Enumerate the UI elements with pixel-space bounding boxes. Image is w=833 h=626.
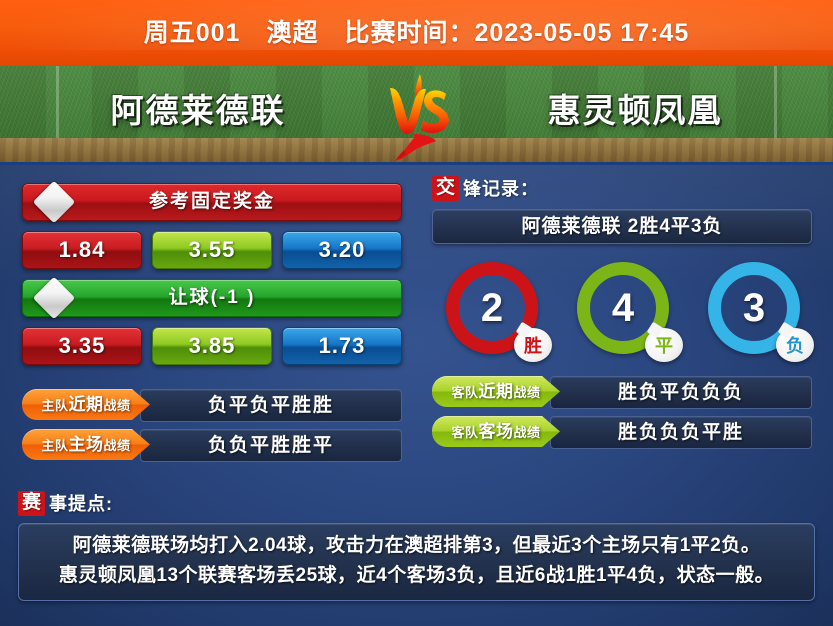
away-form-block: 客队近期战绩 胜负平负负负 客队客场战绩 胜负负负平胜: [432, 376, 812, 447]
fixed-odd-away[interactable]: 3.20: [282, 231, 402, 269]
h2h-column: 交 锋记录： 阿德莱德联 2胜4平3负 2 胜 4 平 3 负: [432, 175, 812, 456]
h2h-ring-loss: 3 负: [708, 262, 800, 354]
odds-column: 参考固定奖金 1.84 3.55 3.20 让球(-1 ) 3.35 3.85 …: [22, 183, 402, 469]
home-recent-form-value: 负平负平胜胜: [140, 389, 402, 422]
handicap-odd-draw[interactable]: 3.85: [152, 327, 272, 365]
away-team-name: 惠灵顿凤凰: [485, 84, 785, 132]
handicap-title: 让球(-1 ): [23, 280, 401, 316]
handicap-title-bar: 让球(-1 ): [22, 279, 402, 317]
handicap-odd-home[interactable]: 3.35: [22, 327, 142, 365]
match-header-text: 周五001 澳超 比赛时间：2023-05-05 17:45: [0, 0, 833, 66]
h2h-record-bar: 阿德莱德联 2胜4平3负: [432, 209, 812, 244]
fixed-odd-draw[interactable]: 3.55: [152, 231, 272, 269]
h2h-ring-win: 2 胜: [446, 262, 538, 354]
home-form-block: 主队近期战绩 负平负平胜胜 主队主场战绩 负负平胜胜平: [22, 389, 402, 460]
tips-heading: 赛 事提点:: [18, 489, 815, 517]
home-venue-form-value: 负负平胜胜平: [140, 429, 402, 462]
fixed-odds-title-bar: 参考固定奖金: [22, 183, 402, 221]
handicap-odds-row: 3.35 3.85 1.73: [22, 327, 402, 365]
handicap-odd-away[interactable]: 1.73: [282, 327, 402, 365]
fixed-odds-title: 参考固定奖金: [23, 184, 401, 220]
away-venue-form-row: 客队客场战绩 胜负负负平胜: [432, 416, 812, 447]
header-banner: 周五001 澳超 比赛时间：2023-05-05 17:45: [0, 0, 833, 66]
h2h-heading-text: 锋记录：: [463, 175, 539, 201]
h2h-rings: 2 胜 4 平 3 负: [432, 262, 812, 354]
h2h-heading: 交 锋记录：: [432, 175, 812, 201]
vs-flame-icon: [374, 68, 460, 162]
match-preview-card: 周五001 澳超 比赛时间：2023-05-05 17:45 阿德莱德联 惠: [0, 0, 833, 626]
fixed-odds-row: 1.84 3.55 3.20: [22, 231, 402, 269]
away-recent-form-value: 胜负平负负负: [550, 376, 812, 409]
main-panel: 参考固定奖金 1.84 3.55 3.20 让球(-1 ) 3.35 3.85 …: [0, 162, 833, 626]
home-team-name: 阿德莱德联: [48, 84, 348, 132]
away-venue-form-tab: 客队客场战绩: [432, 416, 560, 447]
fixed-odd-home[interactable]: 1.84: [22, 231, 142, 269]
tips-line-2: 惠灵顿凤凰13个联赛客场丢25球，近4个客场3负，且近6战1胜1平4负，状态一般…: [33, 561, 800, 591]
tips-line-1: 阿德莱德联场均打入2.04球，攻击力在澳超排第3，但最近3个主场只有1平2负。: [33, 531, 800, 561]
tips-box: 阿德莱德联场均打入2.04球，攻击力在澳超排第3，但最近3个主场只有1平2负。 …: [18, 523, 815, 601]
ring-draw-badge: 平: [645, 328, 683, 362]
ring-loss-badge: 负: [776, 328, 814, 362]
home-recent-form-row: 主队近期战绩 负平负平胜胜: [22, 389, 402, 420]
ring-win-badge: 胜: [514, 328, 552, 362]
tips-heading-text: 事提点:: [49, 490, 113, 516]
away-recent-form-row: 客队近期战绩 胜负平负负负: [432, 376, 812, 407]
h2h-ring-draw: 4 平: [577, 262, 669, 354]
tips-tag: 赛: [18, 491, 45, 516]
home-venue-form-tab: 主队主场战绩: [22, 429, 150, 460]
away-venue-form-value: 胜负负负平胜: [550, 416, 812, 449]
home-venue-form-row: 主队主场战绩 负负平胜胜平: [22, 429, 402, 460]
away-recent-form-tab: 客队近期战绩: [432, 376, 560, 407]
teams-band: 阿德莱德联 惠灵顿凤凰: [0, 66, 833, 162]
tips-section: 赛 事提点: 阿德莱德联场均打入2.04球，攻击力在澳超排第3，但最近3个主场只…: [18, 489, 815, 601]
home-recent-form-tab: 主队近期战绩: [22, 389, 150, 420]
h2h-tag: 交: [432, 176, 459, 201]
